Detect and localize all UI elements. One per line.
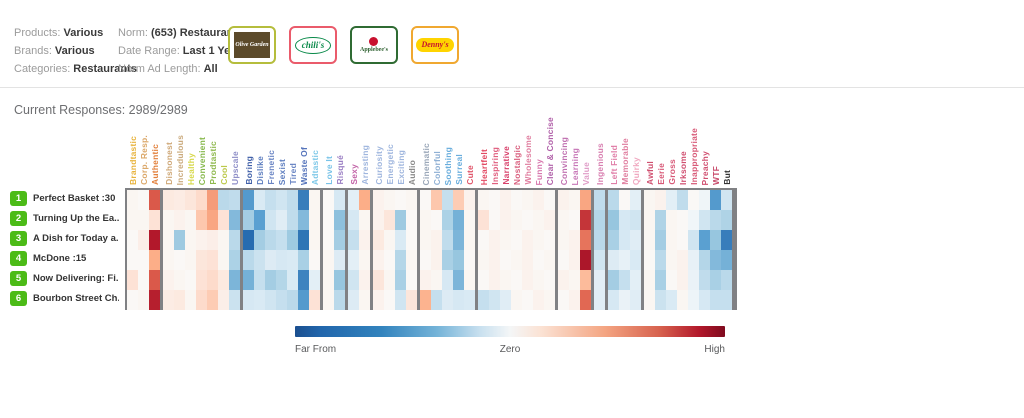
heatmap-cell[interactable] xyxy=(348,250,359,270)
heatmap-column-label-learning[interactable]: Learning xyxy=(570,148,581,186)
heatmap-column-label-brandtastic[interactable]: Brandtastic xyxy=(128,136,139,185)
heatmap-cell[interactable] xyxy=(666,290,677,310)
heatmap-cell[interactable] xyxy=(149,290,160,310)
heatmap-cell[interactable] xyxy=(287,210,298,230)
heatmap-cell[interactable] xyxy=(243,190,254,210)
heatmap-cell[interactable] xyxy=(558,250,569,270)
heatmap-cell[interactable] xyxy=(395,230,406,250)
heatmap-cell[interactable] xyxy=(406,270,417,290)
heatmap-cell[interactable] xyxy=(218,270,229,290)
heatmap-cell[interactable] xyxy=(544,190,555,210)
heatmap-cell[interactable] xyxy=(196,210,207,230)
heatmap-cell[interactable] xyxy=(287,250,298,270)
heatmap-cell[interactable] xyxy=(478,250,489,270)
heatmap-cell[interactable] xyxy=(489,210,500,230)
heatmap-cell[interactable] xyxy=(359,270,370,290)
heatmap-cell[interactable] xyxy=(569,270,580,290)
heatmap-row-label[interactable]: 4McDone :15 xyxy=(10,248,122,268)
heatmap-cell[interactable] xyxy=(522,230,533,250)
heatmap-cell[interactable] xyxy=(655,290,666,310)
heatmap-column-label-upscale[interactable]: Upscale xyxy=(230,151,241,185)
heatmap-cell[interactable] xyxy=(619,290,630,310)
heatmap-column-label-inspiring[interactable]: Inspiring xyxy=(490,147,501,185)
heatmap-cell[interactable] xyxy=(373,250,384,270)
heatmap-cell[interactable] xyxy=(666,250,677,270)
heatmap-column-label-corp-resp[interactable]: Corp. Resp. xyxy=(139,135,150,185)
heatmap-cell[interactable] xyxy=(489,230,500,250)
heatmap-cell[interactable] xyxy=(395,250,406,270)
heatmap-cell[interactable] xyxy=(384,210,395,230)
heatmap-cell[interactable] xyxy=(478,210,489,230)
heatmap-cell[interactable] xyxy=(138,190,149,210)
heatmap-cell[interactable] xyxy=(298,250,309,270)
brand-logo-olive-garden[interactable]: Olive Garden xyxy=(228,26,276,64)
heatmap-cell[interactable] xyxy=(666,270,677,290)
heatmap-cell[interactable] xyxy=(431,190,442,210)
heatmap-cell[interactable] xyxy=(298,210,309,230)
heatmap-cell[interactable] xyxy=(406,250,417,270)
heatmap-cell[interactable] xyxy=(569,210,580,230)
heatmap-cell[interactable] xyxy=(710,290,721,310)
heatmap-cell[interactable] xyxy=(127,210,138,230)
heatmap-cell[interactable] xyxy=(580,290,591,310)
heatmap-column-label-dislike[interactable]: Dislike xyxy=(255,156,266,185)
heatmap-cell[interactable] xyxy=(721,190,732,210)
heatmap-cell[interactable] xyxy=(544,210,555,230)
heatmap-cell[interactable] xyxy=(644,270,655,290)
heatmap-cell[interactable] xyxy=(594,190,605,210)
heatmap-cell[interactable] xyxy=(710,190,721,210)
heatmap-column-label-convenient[interactable]: Convenient xyxy=(197,137,208,185)
heatmap-cell[interactable] xyxy=(558,190,569,210)
heatmap-row-label[interactable]: 2Turning Up the Ea... xyxy=(10,208,122,228)
heatmap-cell[interactable] xyxy=(229,210,240,230)
heatmap-cell[interactable] xyxy=(500,230,511,250)
heatmap-cell[interactable] xyxy=(373,230,384,250)
heatmap-cell[interactable] xyxy=(511,290,522,310)
brand-logo-applebees[interactable]: Applebee's xyxy=(350,26,398,64)
heatmap-row-label[interactable]: 6Bourbon Street Ch... xyxy=(10,288,122,308)
heatmap-column-label-left-field[interactable]: Left Field xyxy=(609,145,620,185)
heatmap-cell[interactable] xyxy=(359,190,370,210)
heatmap-cell[interactable] xyxy=(174,270,185,290)
heatmap-cell[interactable] xyxy=(688,210,699,230)
heatmap-cell[interactable] xyxy=(630,250,641,270)
heatmap-column-label-but[interactable]: But xyxy=(722,170,733,185)
heatmap-cell[interactable] xyxy=(254,290,265,310)
heatmap-cell[interactable] xyxy=(127,230,138,250)
heatmap-cell[interactable] xyxy=(580,190,591,210)
heatmap-cell[interactable] xyxy=(265,230,276,250)
heatmap-cell[interactable] xyxy=(478,190,489,210)
heatmap-cell[interactable] xyxy=(218,250,229,270)
heatmap-cell[interactable] xyxy=(384,230,395,250)
heatmap-cell[interactable] xyxy=(594,230,605,250)
heatmap-cell[interactable] xyxy=(243,270,254,290)
heatmap-cell[interactable] xyxy=(608,290,619,310)
heatmap-column-label-arresting[interactable]: Arresting xyxy=(360,145,371,185)
heatmap-cell[interactable] xyxy=(276,230,287,250)
heatmap-cell[interactable] xyxy=(323,190,334,210)
heatmap-cell[interactable] xyxy=(298,190,309,210)
heatmap-cell[interactable] xyxy=(594,290,605,310)
heatmap-cell[interactable] xyxy=(580,210,591,230)
heatmap-column-label-audio[interactable]: Audio xyxy=(407,160,418,185)
heatmap-cell[interactable] xyxy=(688,290,699,310)
heatmap-cell[interactable] xyxy=(721,210,732,230)
heatmap-column-label-ingenious[interactable]: Ingenious xyxy=(595,143,606,185)
heatmap-cell[interactable] xyxy=(699,250,710,270)
heatmap-cell[interactable] xyxy=(207,250,218,270)
heatmap-cell[interactable] xyxy=(298,290,309,310)
heatmap-cell[interactable] xyxy=(464,270,475,290)
heatmap-cell[interactable] xyxy=(149,250,160,270)
heatmap-column-label-authentic[interactable]: Authentic xyxy=(150,144,161,185)
heatmap-cell[interactable] xyxy=(655,250,666,270)
heatmap-cell[interactable] xyxy=(196,250,207,270)
heatmap-cell[interactable] xyxy=(265,270,276,290)
heatmap-cell[interactable] xyxy=(544,230,555,250)
heatmap-cell[interactable] xyxy=(666,190,677,210)
heatmap-column-label-cute[interactable]: Cute xyxy=(465,165,476,185)
heatmap-cell[interactable] xyxy=(406,210,417,230)
heatmap-cell[interactable] xyxy=(644,230,655,250)
heatmap-cell[interactable] xyxy=(373,270,384,290)
heatmap-cell[interactable] xyxy=(229,190,240,210)
heatmap-cell[interactable] xyxy=(207,210,218,230)
heatmap-cell[interactable] xyxy=(558,210,569,230)
heatmap-cell[interactable] xyxy=(630,230,641,250)
heatmap-cell[interactable] xyxy=(309,250,320,270)
heatmap-cell[interactable] xyxy=(395,270,406,290)
heatmap-cell[interactable] xyxy=(522,190,533,210)
heatmap-cell[interactable] xyxy=(265,250,276,270)
heatmap-cell[interactable] xyxy=(287,230,298,250)
heatmap-cell[interactable] xyxy=(406,230,417,250)
heatmap-cell[interactable] xyxy=(478,290,489,310)
heatmap-cell[interactable] xyxy=(608,190,619,210)
heatmap-cell[interactable] xyxy=(309,230,320,250)
brand-logo-chilis[interactable]: chili's xyxy=(289,26,337,64)
heatmap-cell[interactable] xyxy=(334,210,345,230)
heatmap-cell[interactable] xyxy=(254,210,265,230)
heatmap-cell[interactable] xyxy=(478,270,489,290)
heatmap-cell[interactable] xyxy=(359,290,370,310)
heatmap-cell[interactable] xyxy=(254,270,265,290)
heatmap-cell[interactable] xyxy=(453,190,464,210)
heatmap-column-label-incredulous[interactable]: Incredulous xyxy=(175,135,186,185)
heatmap-cell[interactable] xyxy=(710,270,721,290)
heatmap-cell[interactable] xyxy=(677,210,688,230)
heatmap-cell[interactable] xyxy=(431,230,442,250)
heatmap-cell[interactable] xyxy=(608,250,619,270)
heatmap-cell[interactable] xyxy=(710,250,721,270)
heatmap-column-label-nostalgic[interactable]: Nostalgic xyxy=(512,145,523,185)
heatmap-cell[interactable] xyxy=(359,250,370,270)
heatmap-cell[interactable] xyxy=(185,250,196,270)
heatmap-cell[interactable] xyxy=(699,270,710,290)
heatmap-cell[interactable] xyxy=(334,190,345,210)
heatmap-cell[interactable] xyxy=(149,210,160,230)
heatmap-cell[interactable] xyxy=(500,190,511,210)
heatmap-cell[interactable] xyxy=(395,290,406,310)
heatmap-cell[interactable] xyxy=(163,230,174,250)
heatmap-cell[interactable] xyxy=(644,190,655,210)
heatmap-cell[interactable] xyxy=(442,250,453,270)
heatmap-cell[interactable] xyxy=(630,210,641,230)
heatmap-cell[interactable] xyxy=(323,290,334,310)
heatmap-cell[interactable] xyxy=(384,250,395,270)
heatmap-cell[interactable] xyxy=(174,210,185,230)
heatmap-column-label-convincing[interactable]: Convincing xyxy=(559,137,570,185)
heatmap-cell[interactable] xyxy=(420,190,431,210)
heatmap-cell[interactable] xyxy=(677,190,688,210)
heatmap-cell[interactable] xyxy=(127,250,138,270)
heatmap-cell[interactable] xyxy=(489,250,500,270)
heatmap-cell[interactable] xyxy=(594,250,605,270)
heatmap-cell[interactable] xyxy=(254,190,265,210)
heatmap-cell[interactable] xyxy=(243,290,254,310)
heatmap-cell[interactable] xyxy=(569,250,580,270)
heatmap-cell[interactable] xyxy=(630,270,641,290)
heatmap-cell[interactable] xyxy=(453,250,464,270)
heatmap-cell[interactable] xyxy=(229,270,240,290)
heatmap-cell[interactable] xyxy=(699,290,710,310)
heatmap-cell[interactable] xyxy=(544,250,555,270)
heatmap-cell[interactable] xyxy=(522,210,533,230)
heatmap-cell[interactable] xyxy=(721,230,732,250)
heatmap-cell[interactable] xyxy=(207,270,218,290)
heatmap-column-label-love-it[interactable]: Love It xyxy=(324,156,335,185)
heatmap-cell[interactable] xyxy=(265,190,276,210)
heatmap-cell[interactable] xyxy=(348,210,359,230)
heatmap-cell[interactable] xyxy=(644,210,655,230)
heatmap-cell[interactable] xyxy=(276,190,287,210)
heatmap-cell[interactable] xyxy=(677,250,688,270)
heatmap-cell[interactable] xyxy=(710,230,721,250)
heatmap-cell[interactable] xyxy=(163,250,174,270)
heatmap-cell[interactable] xyxy=(218,190,229,210)
heatmap-cell[interactable] xyxy=(207,190,218,210)
heatmap-cell[interactable] xyxy=(138,290,149,310)
heatmap-cell[interactable] xyxy=(309,290,320,310)
heatmap-cell[interactable] xyxy=(533,270,544,290)
heatmap-cell[interactable] xyxy=(334,270,345,290)
heatmap-cell[interactable] xyxy=(619,210,630,230)
heatmap-cell[interactable] xyxy=(721,270,732,290)
heatmap-column-label-heartfelt[interactable]: Heartfelt xyxy=(479,149,490,185)
heatmap-cell[interactable] xyxy=(619,190,630,210)
heatmap-cell[interactable] xyxy=(174,190,185,210)
heatmap-cell[interactable] xyxy=(138,210,149,230)
heatmap-cell[interactable] xyxy=(138,270,149,290)
brand-logo-dennys[interactable]: Denny's xyxy=(411,26,459,64)
heatmap-cell[interactable] xyxy=(594,210,605,230)
heatmap-column-label-frenetic[interactable]: Frenetic xyxy=(266,150,277,185)
heatmap-cell[interactable] xyxy=(196,270,207,290)
heatmap-cell[interactable] xyxy=(196,190,207,210)
heatmap-column-label-irksome[interactable]: Irksome xyxy=(678,151,689,185)
heatmap-cell[interactable] xyxy=(544,290,555,310)
heatmap-cell[interactable] xyxy=(243,210,254,230)
heatmap-cell[interactable] xyxy=(127,290,138,310)
heatmap-column-label-exciting[interactable]: Exciting xyxy=(396,150,407,185)
heatmap-cell[interactable] xyxy=(677,270,688,290)
heatmap-cell[interactable] xyxy=(522,250,533,270)
heatmap-cell[interactable] xyxy=(677,230,688,250)
heatmap-cell[interactable] xyxy=(163,210,174,230)
heatmap-cell[interactable] xyxy=(287,190,298,210)
heatmap-column-label-cool[interactable]: Cool xyxy=(219,165,230,185)
heatmap-cell[interactable] xyxy=(489,190,500,210)
heatmap-column-label-funny[interactable]: Funny xyxy=(534,159,545,186)
heatmap-cell[interactable] xyxy=(608,270,619,290)
heatmap-column-label-wholesome[interactable]: Wholesome xyxy=(523,135,534,185)
heatmap-cell[interactable] xyxy=(580,270,591,290)
heatmap-cell[interactable] xyxy=(373,210,384,230)
heatmap-cell[interactable] xyxy=(688,250,699,270)
heatmap-cell[interactable] xyxy=(298,230,309,250)
heatmap-cell[interactable] xyxy=(218,290,229,310)
heatmap-cell[interactable] xyxy=(323,210,334,230)
heatmap-cell[interactable] xyxy=(594,270,605,290)
heatmap-cell[interactable] xyxy=(569,290,580,310)
heatmap-cell[interactable] xyxy=(489,270,500,290)
heatmap-cell[interactable] xyxy=(163,270,174,290)
heatmap-cell[interactable] xyxy=(630,290,641,310)
heatmap-column-label-value[interactable]: Value xyxy=(581,162,592,185)
heatmap-cell[interactable] xyxy=(359,210,370,230)
heatmap-cell[interactable] xyxy=(511,230,522,250)
heatmap-cell[interactable] xyxy=(149,230,160,250)
heatmap-cell[interactable] xyxy=(721,250,732,270)
heatmap-cell[interactable] xyxy=(420,270,431,290)
heatmap-cell[interactable] xyxy=(453,230,464,250)
heatmap-column-label-clear-concise[interactable]: Clear & Concise xyxy=(545,117,556,185)
heatmap-cell[interactable] xyxy=(630,190,641,210)
heatmap-cell[interactable] xyxy=(359,230,370,250)
heatmap-cell[interactable] xyxy=(569,190,580,210)
heatmap-column-label-sexy[interactable]: Sexy xyxy=(349,164,360,185)
heatmap-cell[interactable] xyxy=(420,290,431,310)
heatmap-column-label-eerie[interactable]: Eerie xyxy=(656,163,667,185)
heatmap-cell[interactable] xyxy=(608,230,619,250)
heatmap-cell[interactable] xyxy=(384,290,395,310)
heatmap-cell[interactable] xyxy=(229,250,240,270)
heatmap-column-label-memorable[interactable]: Memorable xyxy=(620,138,631,185)
heatmap-cell[interactable] xyxy=(243,250,254,270)
heatmap-cell[interactable] xyxy=(348,270,359,290)
heatmap-cell[interactable] xyxy=(464,190,475,210)
heatmap-cell[interactable] xyxy=(348,230,359,250)
heatmap-cell[interactable] xyxy=(218,210,229,230)
heatmap-cell[interactable] xyxy=(619,270,630,290)
heatmap-cell[interactable] xyxy=(420,230,431,250)
heatmap-cell[interactable] xyxy=(442,190,453,210)
heatmap-cell[interactable] xyxy=(243,230,254,250)
heatmap-cell[interactable] xyxy=(533,210,544,230)
heatmap-cell[interactable] xyxy=(207,230,218,250)
heatmap-cell[interactable] xyxy=(348,190,359,210)
heatmap-cell[interactable] xyxy=(218,230,229,250)
heatmap-cell[interactable] xyxy=(511,210,522,230)
heatmap-cell[interactable] xyxy=(558,230,569,250)
heatmap-cell[interactable] xyxy=(500,210,511,230)
heatmap-cell[interactable] xyxy=(522,270,533,290)
heatmap-cell[interactable] xyxy=(431,250,442,270)
heatmap-cell[interactable] xyxy=(384,270,395,290)
heatmap-cell[interactable] xyxy=(406,190,417,210)
heatmap-column-label-narrative[interactable]: Narrative xyxy=(501,146,512,185)
heatmap-cell[interactable] xyxy=(185,270,196,290)
heatmap-cell[interactable] xyxy=(569,230,580,250)
heatmap-cell[interactable] xyxy=(464,290,475,310)
heatmap-cell[interactable] xyxy=(442,270,453,290)
heatmap-cell[interactable] xyxy=(323,270,334,290)
heatmap-cell[interactable] xyxy=(522,290,533,310)
heatmap-cell[interactable] xyxy=(207,290,218,310)
heatmap-cell[interactable] xyxy=(644,290,655,310)
heatmap-column-label-waste-of[interactable]: Waste Of xyxy=(299,147,310,185)
heatmap-cell[interactable] xyxy=(127,270,138,290)
heatmap-column-label-preachy[interactable]: Preachy xyxy=(700,151,711,185)
heatmap-cell[interactable] xyxy=(323,230,334,250)
heatmap-cell[interactable] xyxy=(431,210,442,230)
heatmap-cell[interactable] xyxy=(276,250,287,270)
heatmap-cell[interactable] xyxy=(431,270,442,290)
heatmap-cell[interactable] xyxy=(511,190,522,210)
heatmap-column-label-gross[interactable]: Gross xyxy=(667,159,678,185)
heatmap-cell[interactable] xyxy=(229,290,240,310)
heatmap-cell[interactable] xyxy=(174,290,185,310)
heatmap-cell[interactable] xyxy=(348,290,359,310)
heatmap-cell[interactable] xyxy=(500,270,511,290)
heatmap-cell[interactable] xyxy=(464,250,475,270)
heatmap-cell[interactable] xyxy=(287,290,298,310)
heatmap-column-label-quirky[interactable]: Quirky xyxy=(631,157,642,185)
heatmap-cell[interactable] xyxy=(196,290,207,310)
heatmap-cell[interactable] xyxy=(533,190,544,210)
heatmap-cell[interactable] xyxy=(500,250,511,270)
heatmap-cell[interactable] xyxy=(453,290,464,310)
heatmap-cell[interactable] xyxy=(254,230,265,250)
heatmap-cell[interactable] xyxy=(442,210,453,230)
heatmap-column-label-boring[interactable]: Boring xyxy=(244,156,255,185)
heatmap-cell[interactable] xyxy=(655,190,666,210)
heatmap-column-label-inappropriate[interactable]: Inappropriate xyxy=(689,128,700,185)
heatmap-cell[interactable] xyxy=(174,230,185,250)
heatmap-cell[interactable] xyxy=(619,230,630,250)
heatmap-cell[interactable] xyxy=(453,270,464,290)
heatmap-cell[interactable] xyxy=(298,270,309,290)
heatmap-cell[interactable] xyxy=(677,290,688,310)
heatmap-column-label-dishonest[interactable]: Dishonest xyxy=(164,142,175,185)
heatmap-cell[interactable] xyxy=(163,190,174,210)
heatmap-row-label[interactable]: 3A Dish for Today a... xyxy=(10,228,122,248)
heatmap-cell[interactable] xyxy=(138,250,149,270)
heatmap-cell[interactable] xyxy=(265,210,276,230)
heatmap-cell[interactable] xyxy=(276,290,287,310)
heatmap-cell[interactable] xyxy=(511,270,522,290)
heatmap-cell[interactable] xyxy=(373,290,384,310)
heatmap-cell[interactable] xyxy=(229,230,240,250)
heatmap-cell[interactable] xyxy=(384,190,395,210)
heatmap-cell[interactable] xyxy=(287,270,298,290)
heatmap-cell[interactable] xyxy=(580,250,591,270)
heatmap-cell[interactable] xyxy=(511,250,522,270)
heatmap-row-label[interactable]: 5Now Delivering: Fi... xyxy=(10,268,122,288)
heatmap-cell[interactable] xyxy=(185,290,196,310)
